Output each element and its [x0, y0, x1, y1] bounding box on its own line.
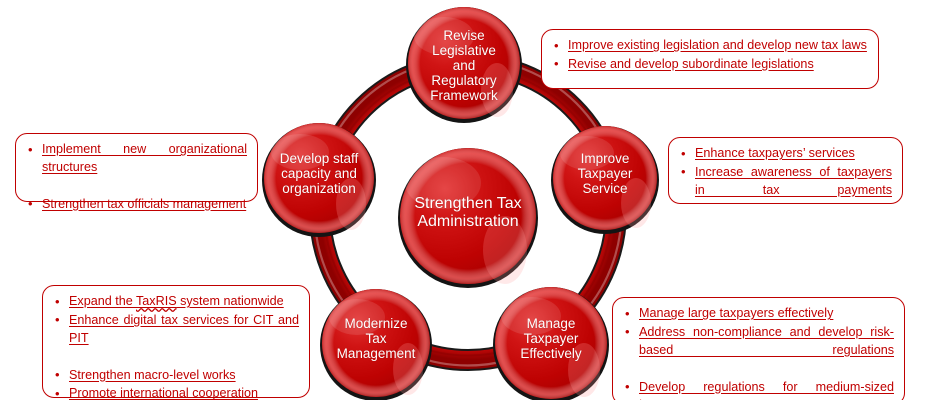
- misspelled-word: TaxRIS: [136, 294, 177, 308]
- node-center-strengthen-tax-administration[interactable]: [398, 148, 538, 288]
- list-item[interactable]: Address non-compliance and develop risk-…: [619, 324, 894, 378]
- list-item-text: Manage large taxpayers effectively: [639, 306, 833, 320]
- list-item[interactable]: Promote international cooperation: [49, 385, 299, 400]
- list-item[interactable]: Expand the TaxRIS system nationwide: [49, 293, 299, 311]
- list-item-text: Strengthen tax officials management: [42, 197, 246, 211]
- callout-staff-capacity-list: Implement new organizational structures …: [22, 141, 247, 214]
- callout-manage-taxpayer-list: Manage large taxpayers effectively Addre…: [619, 305, 894, 400]
- list-item-text: Implement new organizational structures: [42, 141, 247, 195]
- node-improve-taxpayer-service-graphic[interactable]: [551, 126, 659, 234]
- list-item-text: Revise and develop subordinate legislati…: [568, 57, 814, 71]
- list-item-text-spellchecked: Expand the TaxRIS system nationwide: [69, 294, 284, 308]
- list-item[interactable]: Enhance digital tax services for CIT and…: [49, 312, 299, 366]
- callout-legislative[interactable]: Improve existing legislation and develop…: [541, 29, 879, 89]
- list-item[interactable]: Strengthen tax officials management: [22, 196, 247, 214]
- diagram-canvas: Strengthen Tax Administration Revise Leg…: [0, 0, 940, 400]
- callout-legislative-list: Improve existing legislation and develop…: [548, 37, 868, 74]
- callout-taxpayer-service[interactable]: Enhance taxpayers’ services Increase awa…: [668, 137, 903, 204]
- list-item-text: Strengthen macro-level works: [69, 368, 236, 382]
- list-item-text: Address non-compliance and develop risk-…: [639, 324, 894, 378]
- list-item[interactable]: Enhance taxpayers’ services: [675, 145, 892, 163]
- node-manage-taxpayer-effectively-graphic[interactable]: [493, 287, 609, 400]
- list-item[interactable]: Strengthen macro-level works: [49, 367, 299, 385]
- list-item[interactable]: Increase awareness of taxpayers in tax p…: [675, 164, 892, 218]
- callout-modernize[interactable]: Expand the TaxRIS system nationwide Enha…: [42, 285, 310, 398]
- callout-manage-taxpayer[interactable]: Manage large taxpayers effectively Addre…: [612, 297, 905, 400]
- node-develop-staff-capacity-graphic[interactable]: [262, 123, 376, 237]
- list-item-text: Promote international cooperation: [69, 386, 258, 400]
- list-item-text: Develop regulations for medium-sized tax…: [639, 379, 894, 400]
- list-item-text: Improve existing legislation and develop…: [568, 38, 867, 52]
- node-revise-legislative-graphic[interactable]: [406, 7, 522, 123]
- callout-staff-capacity[interactable]: Implement new organizational structures …: [15, 133, 258, 202]
- list-item[interactable]: Manage large taxpayers effectively: [619, 305, 894, 323]
- list-item-text: Increase awareness of taxpayers in tax p…: [695, 164, 892, 218]
- node-modernize-tax-management-graphic[interactable]: [320, 289, 432, 400]
- misspelled-word-prefix: Expand the: [69, 294, 136, 308]
- misspelled-word-suffix: system nationwide: [177, 294, 284, 308]
- list-item[interactable]: Revise and develop subordinate legislati…: [548, 56, 868, 74]
- list-item-text: Enhance digital tax services for CIT and…: [69, 312, 299, 366]
- callout-modernize-list: Expand the TaxRIS system nationwide Enha…: [49, 293, 299, 400]
- list-item[interactable]: Develop regulations for medium-sized tax…: [619, 379, 894, 400]
- list-item[interactable]: Improve existing legislation and develop…: [548, 37, 868, 55]
- callout-taxpayer-service-list: Enhance taxpayers’ services Increase awa…: [675, 145, 892, 218]
- list-item[interactable]: Implement new organizational structures: [22, 141, 247, 195]
- list-item-text: Enhance taxpayers’ services: [695, 146, 855, 160]
